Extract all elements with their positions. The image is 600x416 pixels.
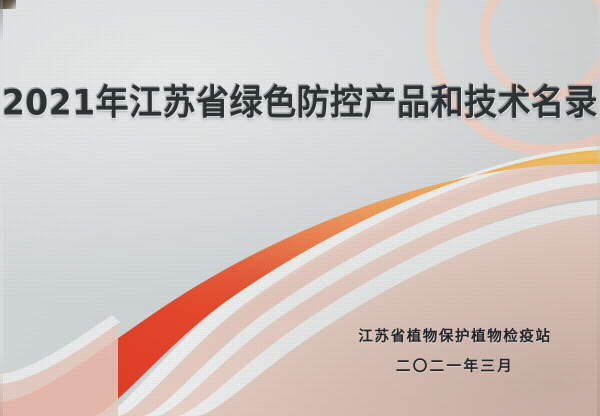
arc-rings-decoration bbox=[430, 0, 600, 150]
photo-edge-left bbox=[0, 0, 3, 416]
inner-arc-ring bbox=[484, 0, 600, 96]
cover-artwork bbox=[0, 0, 600, 416]
outer-arc-ring bbox=[430, 0, 600, 150]
lower-left-pink-wash bbox=[0, 322, 118, 416]
document-cover: 2021年江苏省绿色防控产品和技术名录 江苏省植物保护植物检疫站 二〇二一年三月 bbox=[0, 0, 600, 416]
